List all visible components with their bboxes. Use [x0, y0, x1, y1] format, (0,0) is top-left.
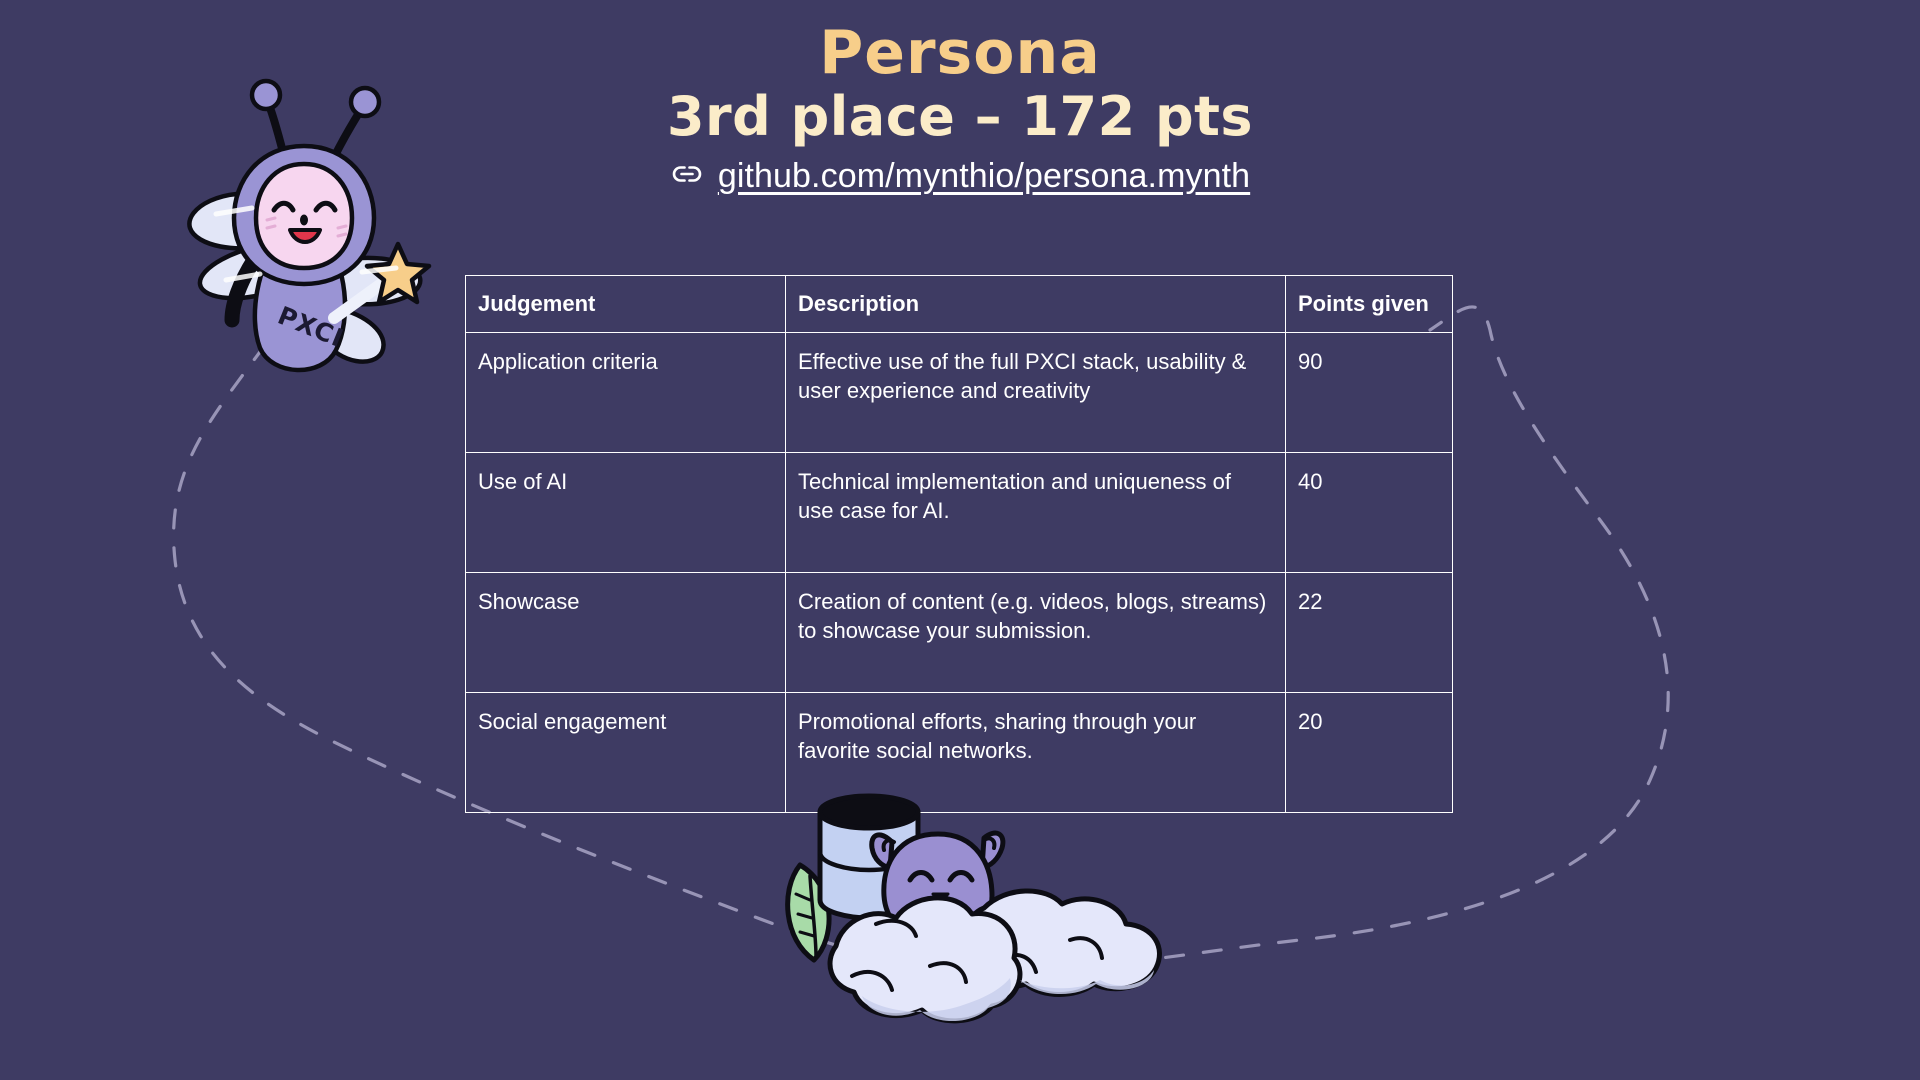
- cell-points: 40: [1286, 453, 1453, 573]
- cell-judgement: Application criteria: [466, 333, 786, 453]
- cell-points: 20: [1286, 693, 1453, 813]
- cell-judgement: Showcase: [466, 573, 786, 693]
- cell-description: Technical implementation and uniqueness …: [786, 453, 1286, 573]
- cell-description: Creation of content (e.g. videos, blogs,…: [786, 573, 1286, 693]
- pxci-fairy-mascot: PXCI: [176, 68, 438, 388]
- cell-points: 22: [1286, 573, 1453, 693]
- table-row: Use of AI Technical implementation and u…: [466, 453, 1453, 573]
- table-row: Application criteria Effective use of th…: [466, 333, 1453, 453]
- scoring-table-wrapper: Judgement Description Points given Appli…: [465, 275, 1452, 813]
- table-header-row: Judgement Description Points given: [466, 276, 1453, 333]
- column-header-description: Description: [786, 276, 1286, 333]
- cell-points: 90: [1286, 333, 1453, 453]
- cell-judgement: Social engagement: [466, 693, 786, 813]
- cloud-cat-mascot-scene: [770, 790, 1170, 1060]
- table-row: Showcase Creation of content (e.g. video…: [466, 573, 1453, 693]
- column-header-judgement: Judgement: [466, 276, 786, 333]
- link-chain-icon: [670, 157, 704, 196]
- column-header-points: Points given: [1286, 276, 1453, 333]
- cell-description: Effective use of the full PXCI stack, us…: [786, 333, 1286, 453]
- cell-judgement: Use of AI: [466, 453, 786, 573]
- project-link[interactable]: github.com/mynthio/persona.mynth: [718, 157, 1250, 196]
- scoring-table: Judgement Description Points given Appli…: [465, 275, 1453, 813]
